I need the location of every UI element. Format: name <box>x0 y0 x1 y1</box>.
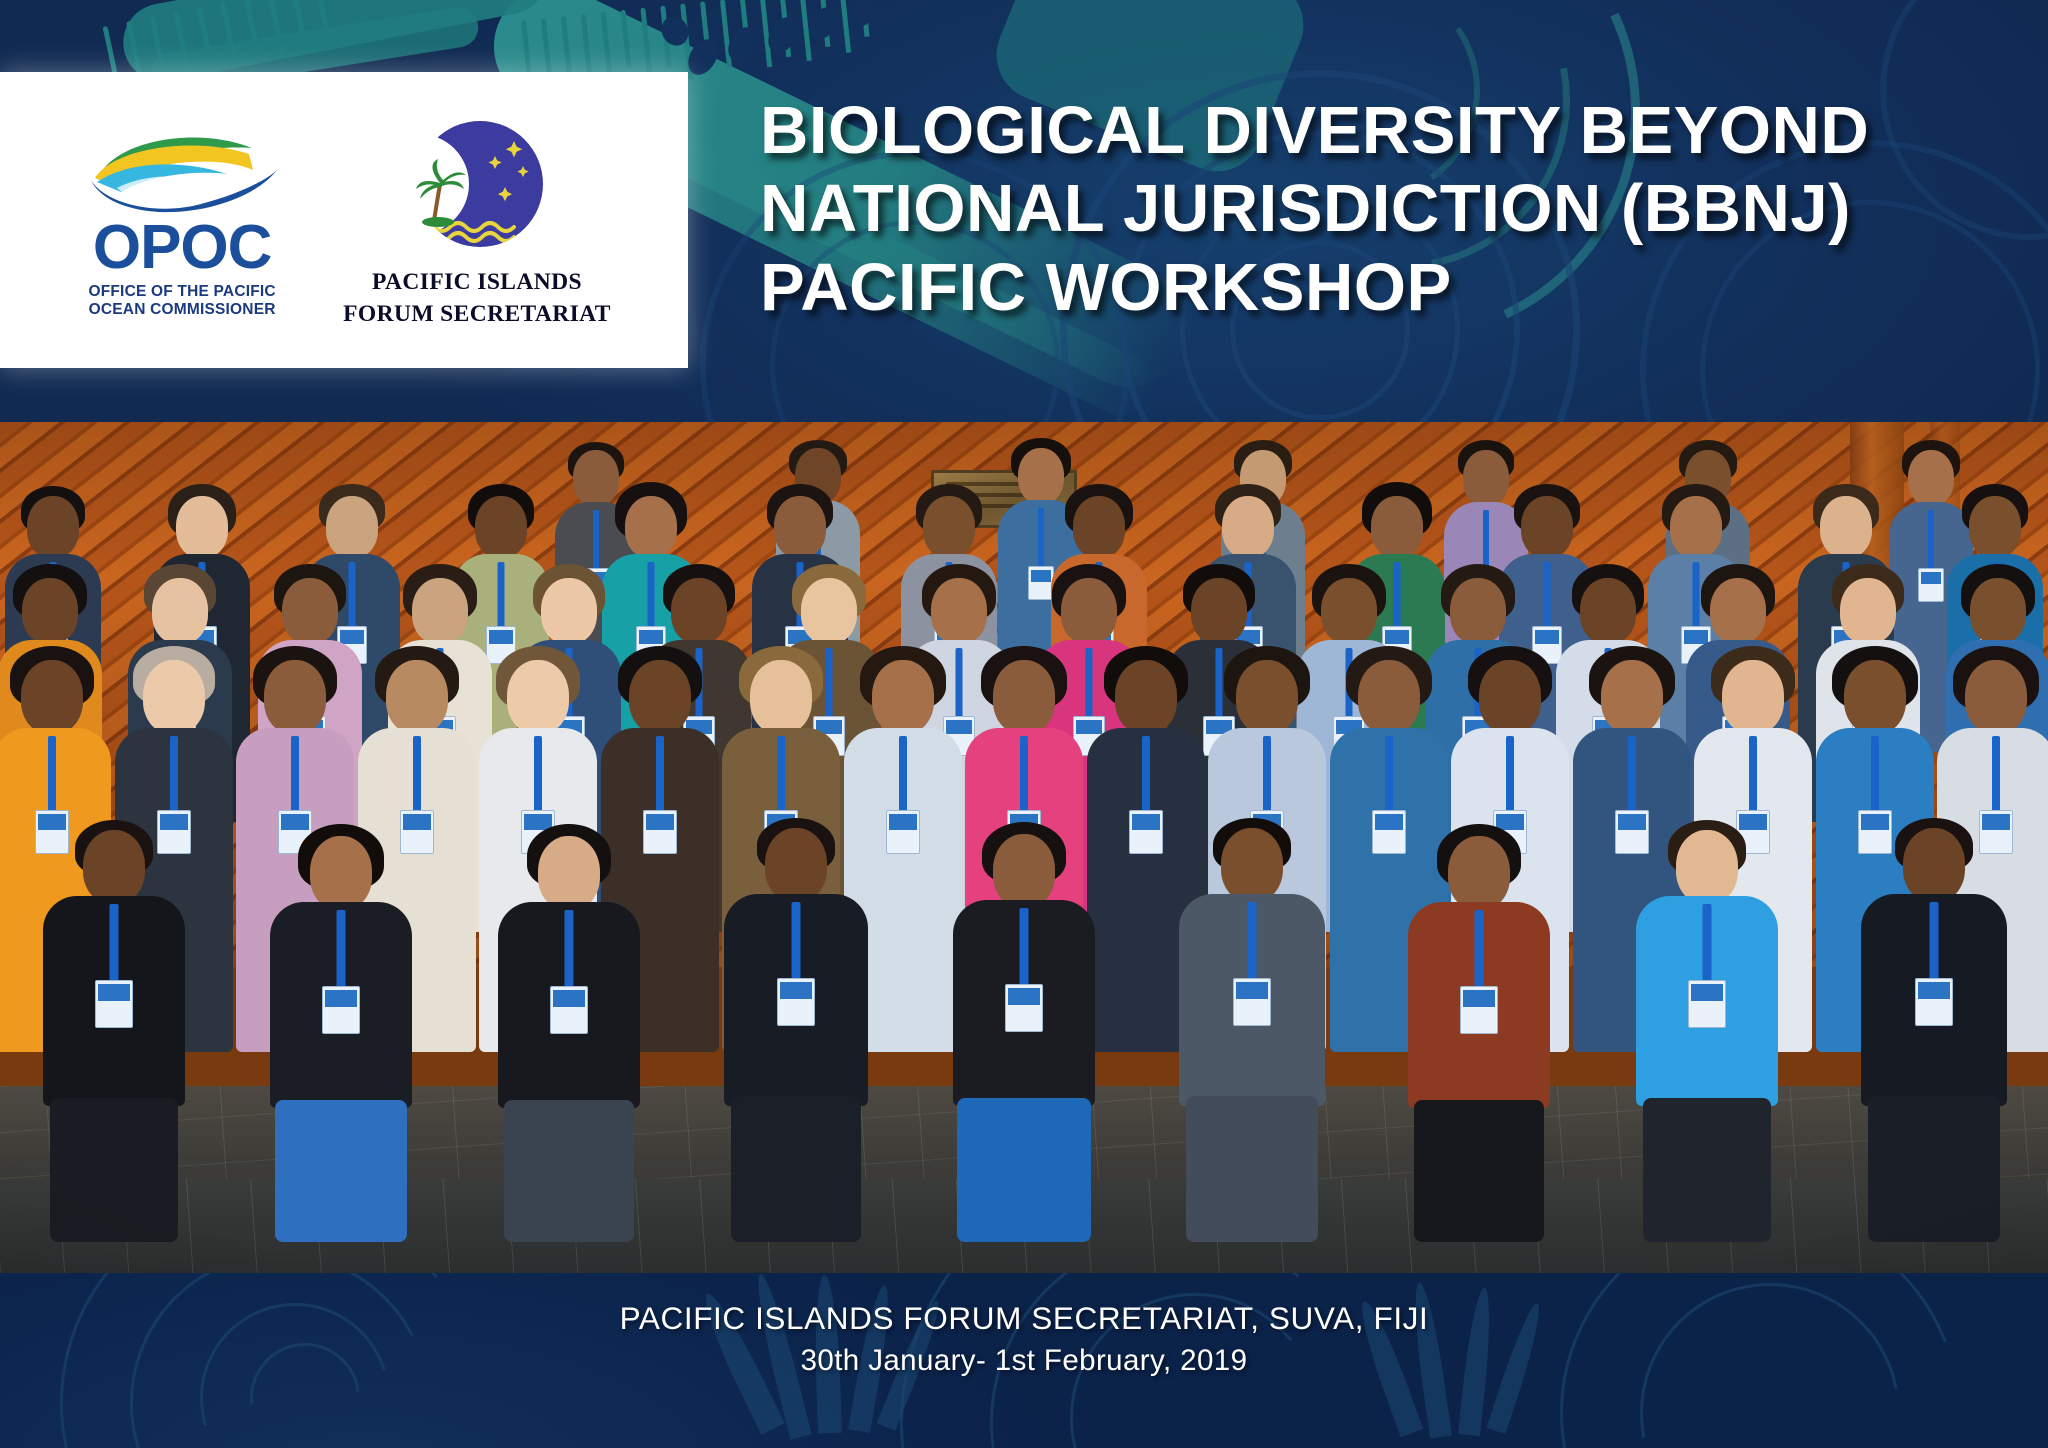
event-banner-poster: OPOC OFFICE OF THE PACIFIC OCEAN COMMISS… <box>0 0 2048 1448</box>
page-title: BIOLOGICAL DIVERSITY BEYOND NATIONAL JUR… <box>760 92 2022 327</box>
pifs-name-line1: PACIFIC ISLANDS <box>372 269 582 295</box>
person-seated <box>1177 802 1327 1242</box>
person-seated <box>949 802 1099 1242</box>
opoc-fish-wave-icon <box>77 120 287 216</box>
opoc-acronym: OPOC <box>93 218 272 278</box>
group-photo <box>0 422 2048 1273</box>
person-seated <box>1859 802 2009 1242</box>
title-line-2: NATIONAL JURISDICTION (BBNJ) <box>760 170 2022 248</box>
person-seated <box>39 802 189 1242</box>
header-band: OPOC OFFICE OF THE PACIFIC OCEAN COMMISS… <box>0 0 2048 422</box>
opoc-subtitle-line1: OFFICE OF THE PACIFIC <box>88 283 275 300</box>
footer-band: PACIFIC ISLANDS FORUM SECRETARIAT, SUVA,… <box>0 1273 2048 1448</box>
pifs-logo-block: PACIFIC ISLANDS FORUM SECRETARIAT <box>343 109 611 330</box>
person-seated <box>266 802 416 1242</box>
partner-logo-card: OPOC OFFICE OF THE PACIFIC OCEAN COMMISS… <box>0 72 688 368</box>
title-line-1: BIOLOGICAL DIVERSITY BEYOND <box>760 92 2022 170</box>
opoc-subtitle: OFFICE OF THE PACIFIC OCEAN COMMISSIONER <box>88 283 275 320</box>
person-seated <box>1632 802 1782 1242</box>
opoc-subtitle-line2: OCEAN COMMISSIONER <box>89 301 276 318</box>
venue-text: PACIFIC ISLANDS FORUM SECRETARIAT, SUVA,… <box>0 1300 2048 1337</box>
dates-text: 30th January- 1st February, 2019 <box>0 1344 2048 1378</box>
pacific-islands-forum-secretariat-icon <box>402 109 552 259</box>
person-seated <box>1404 802 1554 1242</box>
footer-caption: PACIFIC ISLANDS FORUM SECRETARIAT, SUVA,… <box>0 1300 2048 1378</box>
pifs-name-line2: FORUM SECRETARIAT <box>343 301 611 327</box>
person-seated <box>494 802 644 1242</box>
opoc-logo-block: OPOC OFFICE OF THE PACIFIC OCEAN COMMISS… <box>77 120 287 319</box>
crowd-row-front-seated <box>0 782 2048 1242</box>
pifs-name: PACIFIC ISLANDS FORUM SECRETARIAT <box>343 267 611 330</box>
person-seated <box>721 802 871 1242</box>
title-line-3: PACIFIC WORKSHOP <box>760 249 2022 327</box>
